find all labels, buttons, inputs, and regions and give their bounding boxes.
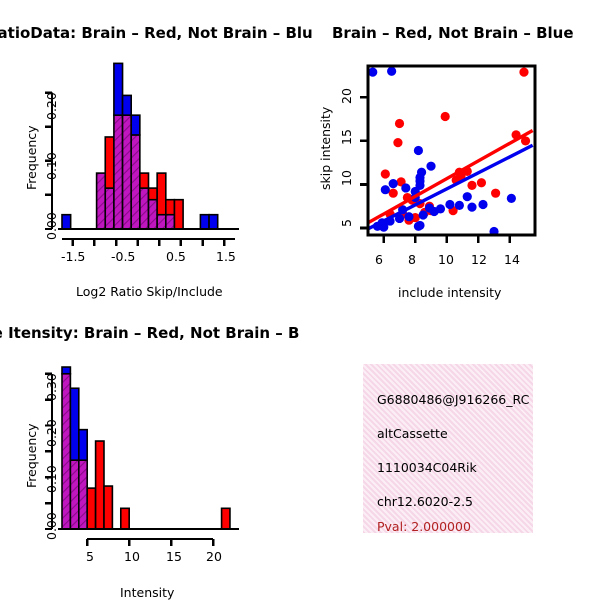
panel-scatter: Brain – Red, Not Brain – Blue skip inten… (300, 0, 600, 305)
panel-histogram-intensity-xlabel: Intensity (120, 585, 174, 600)
panel-histogram-ratio-xlabel: Log2 Ratio Skip/Include (76, 284, 223, 299)
panel-scatter-xlabel: include intensity (398, 285, 501, 300)
info-line-gene: 1110034C04Rik (377, 460, 477, 475)
panel-histogram-ratio: RatioData: Brain – Red, Not Brain – Blu … (0, 0, 300, 305)
panel-histogram-intensity: ne Itensity: Brain – Red, Not Brain – B … (0, 300, 300, 600)
panel-scatter-plot (300, 0, 600, 260)
info-line-id: G6880486@J916266_RC (377, 392, 529, 407)
info-line-type: altCassette (377, 426, 448, 441)
info-line-pval: Pval: 2.000000 (377, 519, 471, 534)
panel-histogram-ratio-plot (0, 0, 300, 260)
info-line-location: chr12.6020-2.5 (377, 494, 473, 509)
panel-histogram-intensity-plot (0, 300, 300, 560)
gene-info-box: G6880486@J916266_RC altCassette 1110034C… (363, 364, 533, 533)
